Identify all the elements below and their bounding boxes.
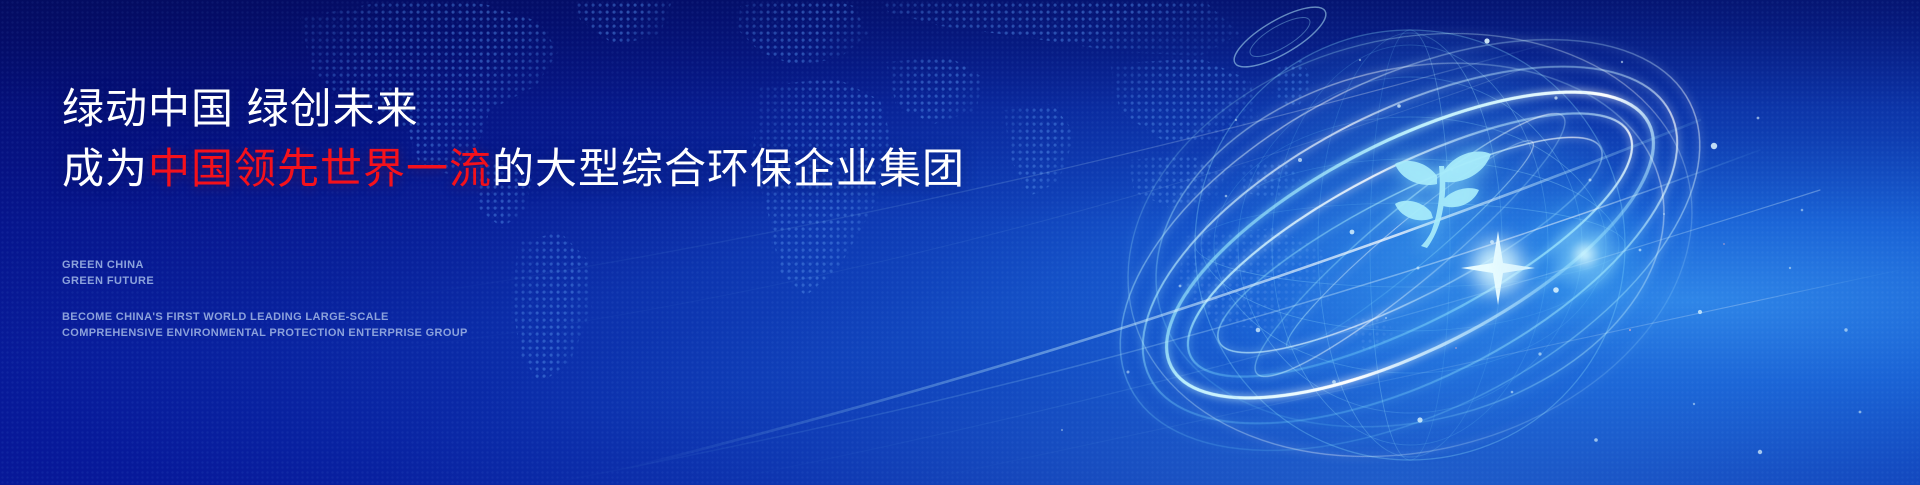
copy-block: 绿动中国 绿创未来 成为中国领先世界一流的大型综合环保企业集团 GREEN CH… [62,0,1062,485]
tagline-line-1: GREEN CHINA [62,258,154,274]
hero-banner: 绿动中国 绿创未来 成为中国领先世界一流的大型综合环保企业集团 GREEN CH… [0,0,1920,485]
globe-core-flare [1490,160,1680,350]
headline-line-1: 绿动中国 绿创未来 [62,82,965,136]
headline-line-2: 成为中国领先世界一流的大型综合环保企业集团 [62,142,965,196]
tagline: GREEN CHINA GREEN FUTURE [62,258,154,289]
subcopy: BECOME CHINA'S FIRST WORLD LEADING LARGE… [62,310,468,341]
headline-line-2-suffix: 的大型综合环保企业集团 [492,145,965,192]
subcopy-line-2: COMPREHENSIVE ENVIRONMENTAL PROTECTION E… [62,326,468,342]
tagline-line-2: GREEN FUTURE [62,274,154,290]
headline-line-2-prefix: 成为 [62,145,148,192]
sprout-seedling-icon [1381,126,1499,250]
subcopy-line-1: BECOME CHINA'S FIRST WORLD LEADING LARGE… [62,310,468,326]
headline-line-2-highlight: 中国领先世界一流 [148,145,492,192]
headline: 绿动中国 绿创未来 成为中国领先世界一流的大型综合环保企业集团 [62,82,965,196]
